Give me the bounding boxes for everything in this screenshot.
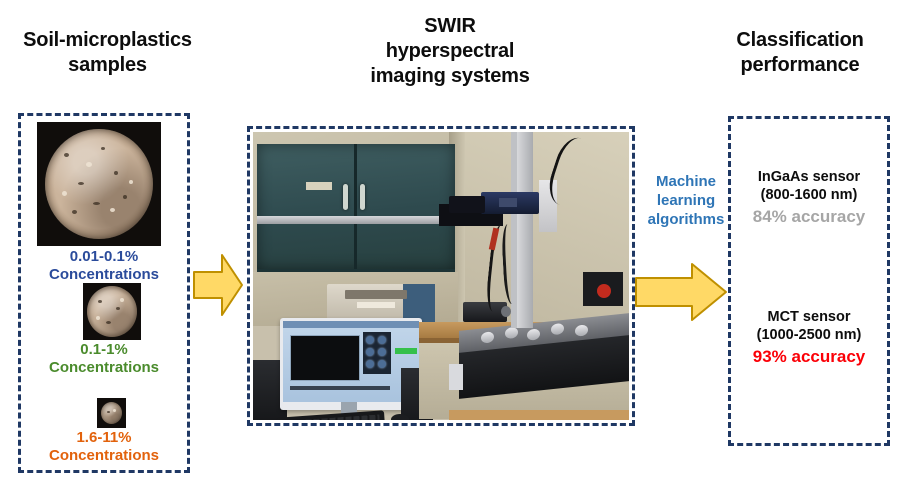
- right-bench-lower-shelf: [449, 410, 629, 420]
- heading-line: performance: [700, 53, 900, 78]
- sensor-name: MCT sensor: [728, 308, 890, 326]
- control-box-lens: [501, 306, 511, 317]
- machine-learning-label: Machine learning algorithms: [640, 172, 732, 229]
- petri-dish-medium: [87, 286, 137, 337]
- camera-display: [499, 198, 517, 207]
- heading-line: Classification: [700, 28, 900, 53]
- printer-front-detail: [357, 302, 395, 308]
- software-status-indicator: [395, 348, 417, 354]
- concentration-value: 0.1-1%: [18, 341, 190, 359]
- ml-line-1: Machine: [640, 172, 732, 191]
- petri-dish-large: [45, 129, 153, 239]
- vertical-rail-column: [517, 132, 533, 328]
- red-adjustment-knob: [597, 284, 611, 298]
- laboratory-photo: [253, 132, 629, 420]
- printer-paper-tray: [345, 290, 407, 299]
- software-title-bar: [283, 321, 419, 328]
- sensor-accuracy: 84% accuracy: [728, 206, 890, 228]
- right-panel-heading: Classification performance: [700, 28, 900, 78]
- concentration-caption: Concentrations: [18, 266, 190, 284]
- heading-line: hyperspectral: [300, 39, 600, 64]
- result-mct: MCT sensor (1000-2500 nm) 93% accuracy: [728, 308, 890, 368]
- arrow-samples-to-imaging-icon: [192, 252, 244, 318]
- sensor-range: (800-1600 nm): [728, 186, 890, 204]
- heading-line: SWIR: [300, 14, 600, 39]
- concentration-label-third: 1.6-11% Concentrations: [18, 429, 190, 465]
- concentration-value: 0.01-0.1%: [18, 248, 190, 266]
- mouse: [391, 414, 409, 420]
- cabinet-label: [306, 182, 332, 190]
- petri-dish-small: [101, 402, 122, 424]
- concentration-label-first: 0.01-0.1% Concentrations: [18, 248, 190, 284]
- horizontal-rail: [257, 216, 457, 224]
- camera-lens: [449, 196, 485, 213]
- sample-image-high-concentration: [37, 122, 161, 246]
- heading-line: imaging systems: [300, 64, 600, 89]
- heading-line: samples: [0, 53, 215, 78]
- arrow-imaging-to-performance-icon: [634, 262, 728, 322]
- sensor-range: (1000-2500 nm): [728, 326, 890, 344]
- ml-line-3: algorithms: [640, 210, 732, 229]
- result-ingaas: InGaAs sensor (800-1600 nm) 84% accuracy: [728, 168, 890, 228]
- sensor-accuracy: 93% accuracy: [728, 346, 890, 368]
- left-panel-heading: Soil-microplastics samples: [0, 28, 215, 78]
- concentration-value: 1.6-11%: [18, 429, 190, 447]
- sample-image-mid-concentration: [83, 283, 141, 340]
- cabinet-door-seam: [354, 144, 357, 269]
- heading-line: Soil-microplastics: [0, 28, 215, 53]
- software-control-panel: [363, 332, 391, 374]
- stage-rail-block: [449, 364, 463, 390]
- software-preview-pane: [290, 335, 360, 381]
- cabinet-handle-left: [343, 184, 348, 210]
- sample-image-low-concentration: [97, 398, 126, 428]
- software-toolbar: [290, 386, 390, 390]
- ml-line-2: learning: [640, 191, 732, 210]
- concentration-caption: Concentrations: [18, 359, 190, 377]
- sensor-name: InGaAs sensor: [728, 168, 890, 186]
- concentration-label-second: 0.1-1% Concentrations: [18, 341, 190, 377]
- cabinet-handle-right: [360, 184, 365, 210]
- middle-panel-heading: SWIR hyperspectral imaging systems: [300, 14, 600, 89]
- graphical-abstract: Soil-microplastics samples SWIR hyperspe…: [0, 0, 900, 486]
- classification-performance-panel: [728, 116, 890, 446]
- concentration-caption: Concentrations: [18, 447, 190, 465]
